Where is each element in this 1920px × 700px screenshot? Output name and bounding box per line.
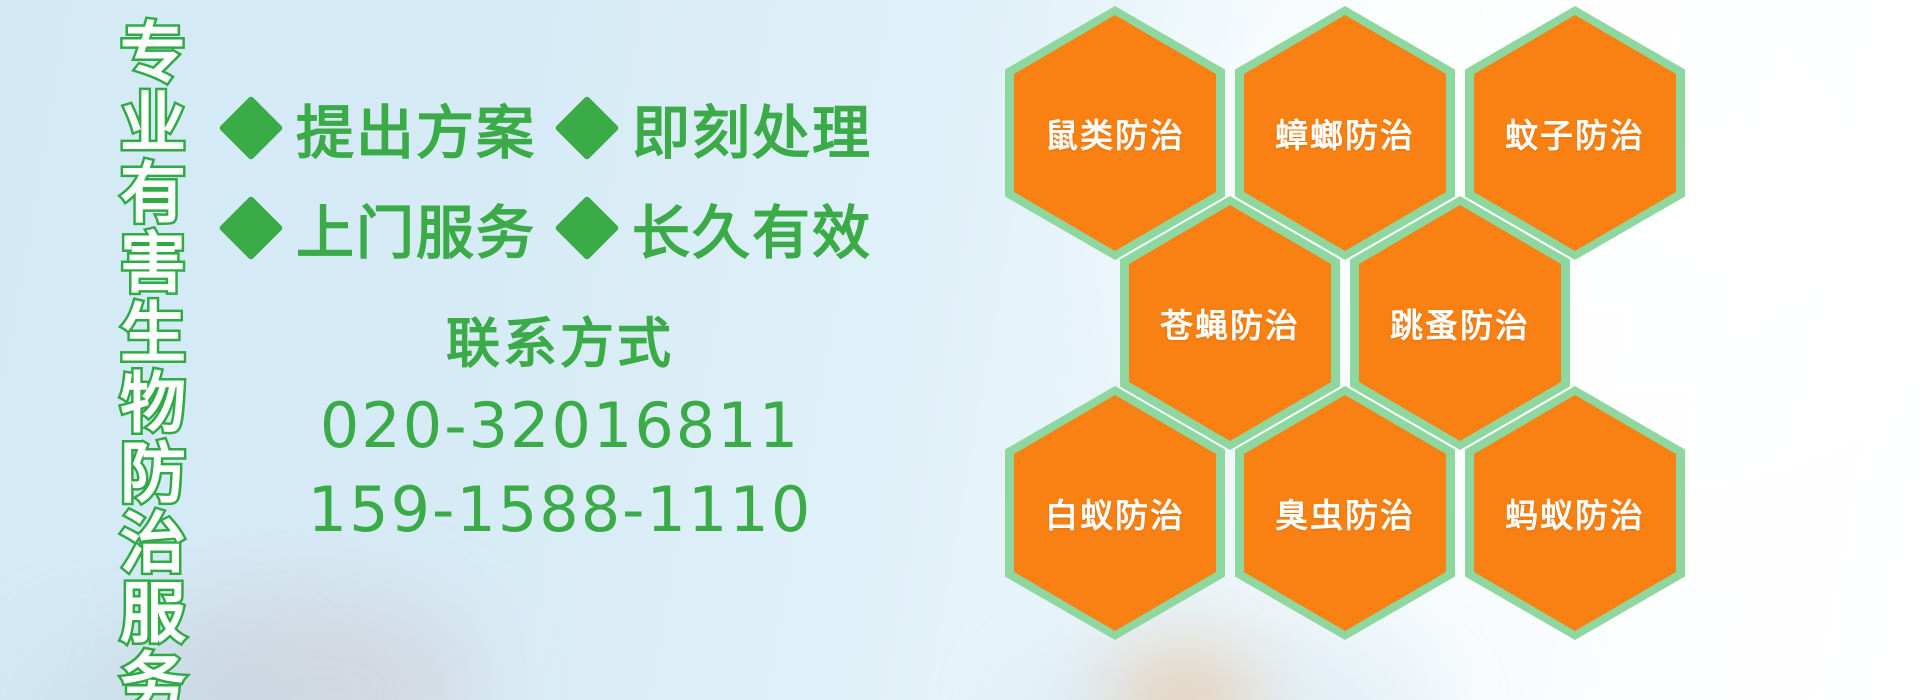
background-blur-blob	[150, 590, 480, 700]
feature-label: 即刻处理	[632, 86, 872, 170]
contact-title: 联系方式	[250, 308, 870, 380]
contact-block: 联系方式 020-32016811 159-1588-1110	[250, 308, 870, 552]
feature-item-propose-plan: 提出方案	[228, 86, 564, 170]
feature-row: 上门服务 长久有效	[228, 178, 878, 278]
service-label: 白蚁防治	[1005, 386, 1225, 640]
diamond-bullet-icon	[218, 95, 283, 160]
feature-label: 长久有效	[632, 186, 872, 270]
vertical-headline-char: 务	[120, 648, 186, 700]
feature-item-door-to-door-service: 上门服务	[228, 186, 564, 270]
vertical-headline-char: 业	[120, 88, 186, 158]
promo-banner: 专 业 有 害 生 物 防 治 服 务 提出方案 即刻处理 上门服务	[0, 0, 1920, 700]
vertical-headline-char: 有	[120, 158, 186, 228]
vertical-headline-char: 物	[120, 368, 186, 438]
vertical-headline: 专 业 有 害 生 物 防 治 服 务	[104, 18, 202, 578]
vertical-headline-char: 专	[120, 18, 186, 88]
vertical-headline-char: 害	[120, 228, 186, 298]
feature-row: 提出方案 即刻处理	[228, 78, 878, 178]
diamond-bullet-icon	[218, 195, 283, 260]
vertical-headline-char: 治	[120, 508, 186, 578]
feature-label: 上门服务	[296, 186, 536, 270]
phone-number-landline[interactable]: 020-32016811	[250, 384, 870, 468]
phone-number-mobile[interactable]: 159-1588-1110	[250, 468, 870, 552]
feature-item-long-lasting-effect: 长久有效	[564, 186, 900, 270]
diamond-bullet-icon	[554, 195, 619, 260]
vertical-headline-char: 生	[120, 298, 186, 368]
feature-list: 提出方案 即刻处理 上门服务 长久有效	[228, 78, 878, 278]
service-honeycomb-grid: 鼠类防治 蟑螂防治 蚊子防治 苍蝇防治 跳蚤防治 白蚁防治	[1060, 0, 1680, 700]
feature-label: 提出方案	[296, 86, 536, 170]
service-hex-ant[interactable]: 蚂蚁防治	[1465, 386, 1685, 640]
feature-item-immediate-handling: 即刻处理	[564, 86, 900, 170]
vertical-headline-char: 服	[120, 578, 186, 648]
service-hex-bedbug[interactable]: 臭虫防治	[1235, 386, 1455, 640]
service-label: 臭虫防治	[1235, 386, 1455, 640]
diamond-bullet-icon	[554, 95, 619, 160]
service-label: 蚂蚁防治	[1465, 386, 1685, 640]
vertical-headline-char: 防	[120, 438, 186, 508]
service-hex-termite[interactable]: 白蚁防治	[1005, 386, 1225, 640]
